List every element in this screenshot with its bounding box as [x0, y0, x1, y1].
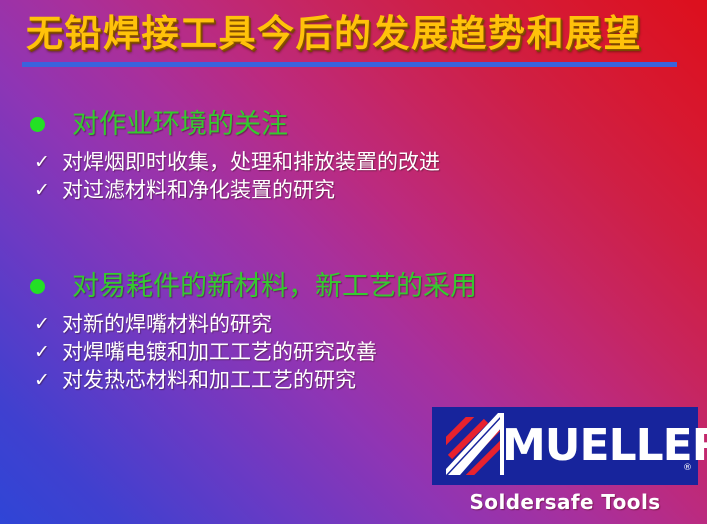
group-2-heading-row: 对易耗件的新材料，新工艺的采用 — [0, 268, 707, 308]
list-item: ✓ 对新的焊嘴材料的研究 — [0, 310, 707, 338]
check-mark-icon: ✓ — [34, 310, 54, 338]
mueller-logo: MUELLER ® — [432, 407, 698, 485]
list-item: ✓ 对焊烟即时收集，处理和排放装置的改进 — [0, 148, 707, 176]
list-item: ✓ 对过滤材料和净化装置的研究 — [0, 176, 707, 204]
check-mark-icon: ✓ — [34, 338, 54, 366]
filled-circle-bullet-icon — [30, 117, 45, 132]
group-1-items: ✓ 对焊烟即时收集，处理和排放装置的改进 ✓ 对过滤材料和净化装置的研究 — [0, 148, 707, 204]
group-1-heading-row: 对作业环境的关注 — [0, 106, 707, 146]
list-item-label: 对新的焊嘴材料的研究 — [62, 310, 272, 338]
list-item-label: 对发热芯材料和加工工艺的研究 — [62, 366, 356, 394]
group-2-items: ✓ 对新的焊嘴材料的研究 ✓ 对焊嘴电镀和加工工艺的研究改善 ✓ 对发热芯材料和… — [0, 310, 707, 394]
bullet-group-2: 对易耗件的新材料，新工艺的采用 ✓ 对新的焊嘴材料的研究 ✓ 对焊嘴电镀和加工工… — [0, 268, 707, 394]
logo-wordmark-text: MUELLER — [502, 419, 707, 473]
slide-canvas: 无铅焊接工具今后的发展趋势和展望 对作业环境的关注 ✓ 对焊烟即时收集，处理和排… — [0, 0, 707, 524]
list-item-label: 对焊嘴电镀和加工工艺的研究改善 — [62, 338, 377, 366]
logo-tagline: Soldersafe Tools — [432, 490, 698, 514]
check-mark-icon: ✓ — [34, 148, 54, 176]
check-mark-icon: ✓ — [34, 366, 54, 394]
title-block: 无铅焊接工具今后的发展趋势和展望 — [0, 6, 707, 68]
list-item-label: 对焊烟即时收集，处理和排放装置的改进 — [62, 148, 440, 176]
bullet-group-1: 对作业环境的关注 ✓ 对焊烟即时收集，处理和排放装置的改进 ✓ 对过滤材料和净化… — [0, 106, 707, 204]
group-2-heading-label: 对易耗件的新材料，新工艺的采用 — [72, 268, 477, 306]
list-item-label: 对过滤材料和净化装置的研究 — [62, 176, 335, 204]
group-1-heading-label: 对作业环境的关注 — [72, 106, 288, 144]
page-title: 无铅焊接工具今后的发展趋势和展望 — [26, 6, 696, 60]
list-item: ✓ 对焊嘴电镀和加工工艺的研究改善 — [0, 338, 707, 366]
registered-trademark-icon: ® — [683, 463, 692, 473]
title-underline-rule — [22, 62, 677, 67]
filled-circle-bullet-icon — [30, 279, 45, 294]
list-item: ✓ 对发热芯材料和加工工艺的研究 — [0, 366, 707, 394]
check-mark-icon: ✓ — [34, 176, 54, 204]
